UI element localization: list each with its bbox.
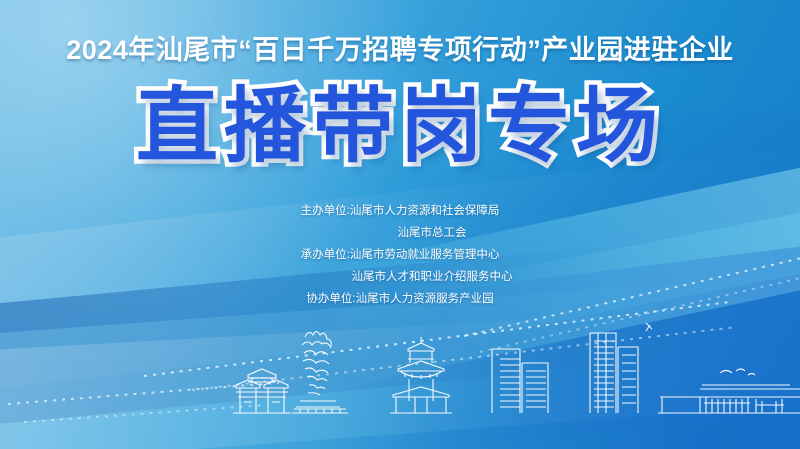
event-subtitle-line: 2024年汕尾市“百日千万招聘专项行动”产业园进驻企业 [0,28,800,67]
poster-banner: 2024年汕尾市“百日千万招聘专项行动”产业园进驻企业 直播带岗专场 主办单位:… [0,0,800,449]
high-rise-tower-left-icon [492,349,548,413]
organizer-line-coorganizer: 协办单位:汕尾市人力资源服务产业园 [0,288,800,310]
organizer-line-host-2: 汕尾市总工会 [0,222,800,244]
organizer-line-operator: 承办单位:汕尾市劳动就业服务管理中心 [0,244,800,266]
colonnade-building-icon [658,369,800,413]
pagoda-pavilion-icon [390,337,452,413]
organizer-line-host: 主办单位:汕尾市人力资源和社会保障局 [0,200,800,222]
paifang-archway-icon [233,369,291,413]
page-title: 直播带岗专场 [0,84,800,170]
organizer-list: 主办单位:汕尾市人力资源和社会保障局 汕尾市总工会 承办单位:汕尾市劳动就业服务… [0,200,800,310]
organizer-line-operator-2: 汕尾市人才和职业介绍服务中心 [0,266,800,288]
city-skyline-illustration [0,319,800,449]
monument-statue-icon [292,332,348,414]
high-rise-tower-right-icon [590,323,652,413]
